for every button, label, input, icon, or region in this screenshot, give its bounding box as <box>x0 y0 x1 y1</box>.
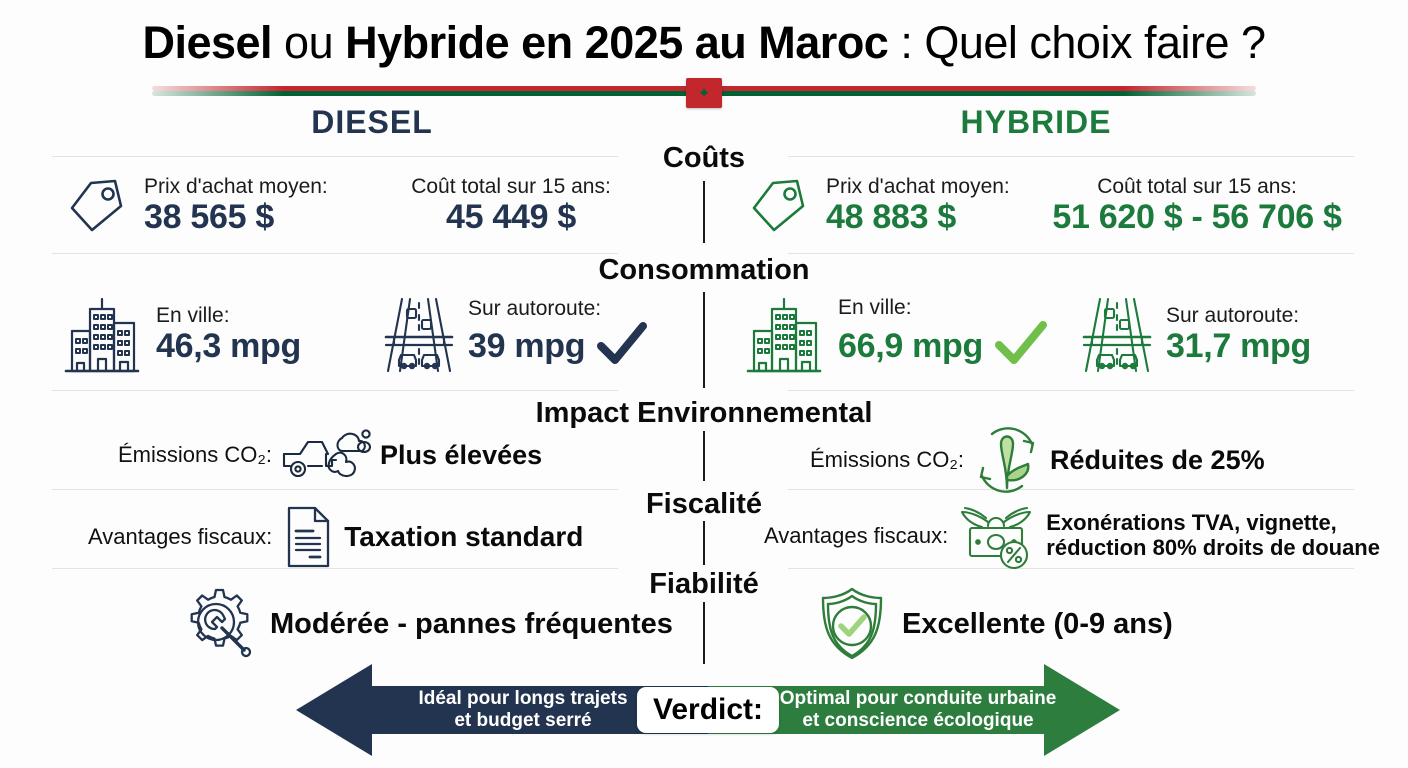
consumption-diesel-highway: Sur autoroute: 39 mpg <box>380 293 647 377</box>
center-divider-fiscalite <box>703 521 705 565</box>
cost-hybride-total-value: 51 620 $ - 56 706 $ <box>1052 199 1341 236</box>
checkmark-winner-icon <box>995 321 1047 374</box>
money-wings-percent-icon <box>956 500 1038 572</box>
consumption-diesel-highway-value-row: 39 mpg <box>468 322 647 373</box>
verdict-right-line1: Optimal pour conduite urbaine <box>758 688 1078 710</box>
consumption-hybride-highway-text: Sur autoroute: 31,7 mpg <box>1166 304 1311 366</box>
cost-diesel-total: Coût total sur 15 ans: 45 449 $ <box>400 175 622 237</box>
consumption-diesel-city-label: En ville: <box>156 304 301 328</box>
center-divider-fiabilite <box>703 602 705 664</box>
cost-hybride-total: Coût total sur 15 ans: 51 620 $ - 56 706… <box>1038 175 1356 237</box>
highway-icon <box>1078 293 1156 377</box>
title-part-question: : Quel choix faire ? <box>888 17 1265 68</box>
row-separator <box>52 390 618 391</box>
verdict-bar: Idéal pour longs trajets et budget serré… <box>296 660 1120 760</box>
section-title-consommation: Consommation <box>0 254 1408 287</box>
consumption-hybride-highway: Sur autoroute: 31,7 mpg <box>1078 293 1311 377</box>
morocco-flag-divider: ✦ <box>152 84 1256 104</box>
fiscality-diesel: Avantages fiscaux: Taxation standard <box>88 503 583 571</box>
fiscality-hybride-value: Exonérations TVA, vignette, réduction 80… <box>1046 511 1380 560</box>
consumption-hybride-city-text: En ville: 66,9 mpg <box>838 296 1047 373</box>
city-buildings-icon <box>60 293 144 377</box>
title-part-hybride: Hybride en 2025 au Maroc <box>345 17 888 68</box>
title-part-diesel: Diesel <box>142 17 272 68</box>
cost-hybride-purchase: Prix d'achat moyen: 48 883 $ <box>748 175 1010 237</box>
consumption-diesel-city-text: En ville: 46,3 mpg <box>156 304 301 366</box>
consumption-hybride-highway-label: Sur autoroute: <box>1166 304 1311 328</box>
gear-wrench-icon <box>178 584 258 664</box>
reliability-hybride: Excellente (0-9 ans) <box>816 584 1173 664</box>
row-separator <box>52 253 618 254</box>
verdict-left-text: Idéal pour longs trajets et budget serré <box>388 688 658 732</box>
price-tag-icon <box>66 175 132 237</box>
cost-diesel-purchase: Prix d'achat moyen: 38 565 $ <box>66 175 328 237</box>
fiscality-diesel-label: Avantages fiscaux: <box>88 524 272 550</box>
reliability-hybride-value: Excellente (0-9 ans) <box>902 608 1173 641</box>
cost-diesel-purchase-value: 38 565 $ <box>144 199 328 236</box>
environment-hybride-label: Émissions CO₂: <box>810 447 964 473</box>
cost-hybride-purchase-text: Prix d'achat moyen: 48 883 $ <box>826 175 1010 237</box>
consumption-diesel-city: En ville: 46,3 mpg <box>60 293 301 377</box>
cost-diesel-purchase-label: Prix d'achat moyen: <box>144 175 328 199</box>
verdict-left-line2: et budget serré <box>388 710 658 732</box>
consumption-diesel-highway-label: Sur autoroute: <box>468 297 647 321</box>
consumption-hybride-highway-value: 31,7 mpg <box>1166 328 1311 365</box>
environment-diesel: Émissions CO₂: Plus élevées <box>118 424 542 486</box>
center-divider-consommation <box>703 292 705 388</box>
fiscality-hybride: Avantages fiscaux: <box>764 500 1380 572</box>
document-icon <box>280 503 336 571</box>
reliability-diesel-value: Modérée - pannes fréquentes <box>270 608 673 641</box>
fiscality-hybride-value-line1: Exonérations TVA, vignette, <box>1046 511 1380 536</box>
title-part-ou: ou <box>272 17 345 68</box>
cost-diesel-total-value: 45 449 $ <box>446 199 576 236</box>
row-separator <box>788 156 1354 157</box>
consumption-hybride-city-value-row: 66,9 mpg <box>838 321 1047 374</box>
cost-hybride-purchase-label: Prix d'achat moyen: <box>826 175 1010 199</box>
row-separator <box>788 253 1354 254</box>
reliability-diesel: Modérée - pannes fréquentes <box>178 584 673 664</box>
highway-icon <box>380 293 458 377</box>
consumption-hybride-city-value: 66,9 mpg <box>838 328 983 365</box>
cost-hybride-total-text: Coût total sur 15 ans: 51 620 $ - 56 706… <box>1038 175 1356 237</box>
cost-diesel-purchase-text: Prix d'achat moyen: 38 565 $ <box>144 175 328 237</box>
consumption-diesel-highway-value: 39 mpg <box>468 328 585 365</box>
price-tag-icon <box>748 175 814 237</box>
cost-hybride-total-label: Coût total sur 15 ans: <box>1097 175 1297 199</box>
environment-diesel-value: Plus élevées <box>380 440 542 471</box>
verdict-right-text: Optimal pour conduite urbaine et conscie… <box>758 688 1078 732</box>
fiscality-hybride-label: Avantages fiscaux: <box>764 523 948 549</box>
cost-hybride-purchase-value: 48 883 $ <box>826 199 1010 236</box>
environment-hybride-value: Réduites de 25% <box>1050 445 1265 476</box>
leaf-recycle-icon <box>970 424 1044 496</box>
infographic-root: Diesel ou Hybride en 2025 au Maroc : Que… <box>0 0 1408 768</box>
column-header-diesel: DIESEL <box>52 104 692 141</box>
center-divider-environnement <box>703 431 705 481</box>
page-title: Diesel ou Hybride en 2025 au Maroc : Que… <box>0 16 1408 70</box>
pentagram-star-icon: ✦ <box>698 86 711 101</box>
cost-diesel-total-label: Coût total sur 15 ans: <box>411 175 611 199</box>
column-header-hybride: HYBRIDE <box>716 104 1356 141</box>
verdict-left-line1: Idéal pour longs trajets <box>388 688 658 710</box>
consumption-diesel-highway-text: Sur autoroute: 39 mpg <box>468 297 647 372</box>
consumption-diesel-city-value: 46,3 mpg <box>156 328 301 365</box>
environment-hybride: Émissions CO₂: Réduites de 25% <box>810 424 1265 496</box>
center-divider-couts <box>703 181 705 243</box>
cost-diesel-total-text: Coût total sur 15 ans: 45 449 $ <box>400 175 622 237</box>
consumption-hybride-city: En ville: 66,9 mpg <box>742 293 1047 377</box>
row-separator <box>788 390 1354 391</box>
section-title-couts: Coûts <box>0 142 1408 175</box>
fiscality-diesel-value: Taxation standard <box>344 521 583 553</box>
environment-diesel-label: Émissions CO₂: <box>118 442 272 468</box>
verdict-right-line2: et conscience écologique <box>758 710 1078 732</box>
car-exhaust-smoke-icon <box>278 424 374 486</box>
row-separator <box>52 489 618 490</box>
city-buildings-icon <box>742 293 826 377</box>
consumption-hybride-city-label: En ville: <box>838 296 1047 320</box>
shield-check-icon <box>816 584 888 664</box>
fiscality-hybride-value-line2: réduction 80% droits de douane <box>1046 536 1380 561</box>
checkmark-winner-icon <box>597 322 647 373</box>
verdict-chip-label: Verdict: <box>637 687 779 733</box>
row-separator <box>52 156 618 157</box>
